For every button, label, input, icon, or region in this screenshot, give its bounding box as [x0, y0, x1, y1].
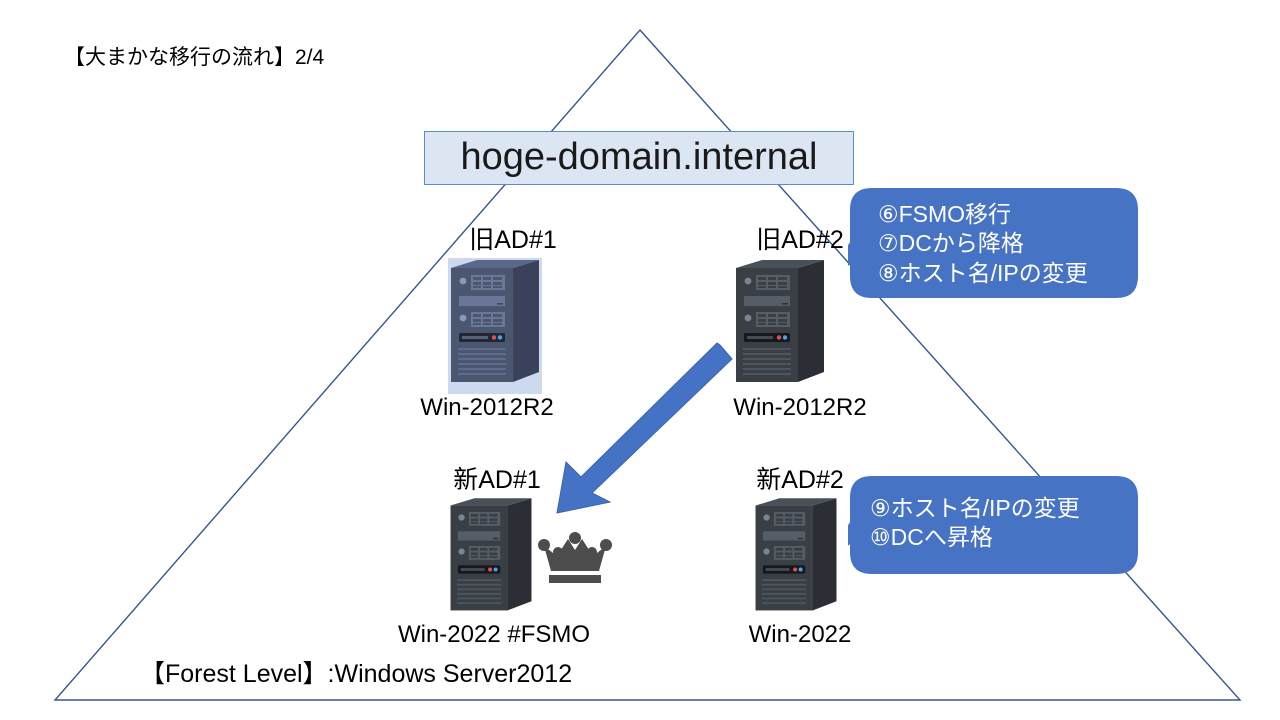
- domain-name-box: hoge-domain.internal: [424, 131, 854, 185]
- forest-level-label: 【Forest Level】:Windows Server2012: [140, 662, 572, 687]
- crown-icon: [537, 526, 613, 586]
- server-node-label: 新AD#2: [756, 468, 844, 493]
- callout-promote: ⑨ホスト名/IPの変更 ⑩DCへ昇格: [848, 474, 1140, 578]
- callout-line: ⑩DCへ昇格: [870, 523, 1080, 552]
- callout-text: ⑥FSMO移行 ⑦DCから降格 ⑧ホスト名/IPの変更: [878, 200, 1088, 288]
- callout-fsmo: ⑥FSMO移行 ⑦DCから降格 ⑧ホスト名/IPの変更: [848, 186, 1140, 302]
- server-tower-icon: [445, 498, 537, 618]
- server-node-label: 新AD#1: [453, 468, 541, 493]
- server-os-label: Win-2012R2: [420, 396, 553, 420]
- callout-line: ⑦DCから降格: [878, 229, 1088, 258]
- server-node-label: 旧AD#2: [756, 228, 844, 253]
- slide-canvas: 【大まかな移行の流れ】2/4 hoge-domain.internal 旧AD#…: [0, 0, 1280, 720]
- callout-line: ⑥FSMO移行: [878, 200, 1088, 229]
- callout-text: ⑨ホスト名/IPの変更 ⑩DCへ昇格: [870, 494, 1080, 553]
- callout-line: ⑨ホスト名/IPの変更: [870, 494, 1080, 523]
- arrow-down-left-icon: [535, 340, 760, 525]
- domain-name-label: hoge-domain.internal: [460, 138, 817, 179]
- server-tower-icon: [750, 498, 842, 618]
- server-node-label: 旧AD#1: [469, 228, 557, 253]
- server-os-label: Win-2022 #FSMO: [398, 623, 590, 647]
- page-title: 【大まかな移行の流れ】2/4: [64, 45, 324, 70]
- server-tower-icon: [445, 260, 545, 390]
- callout-line: ⑧ホスト名/IPの変更: [878, 259, 1088, 288]
- server-os-label: Win-2022: [749, 623, 852, 647]
